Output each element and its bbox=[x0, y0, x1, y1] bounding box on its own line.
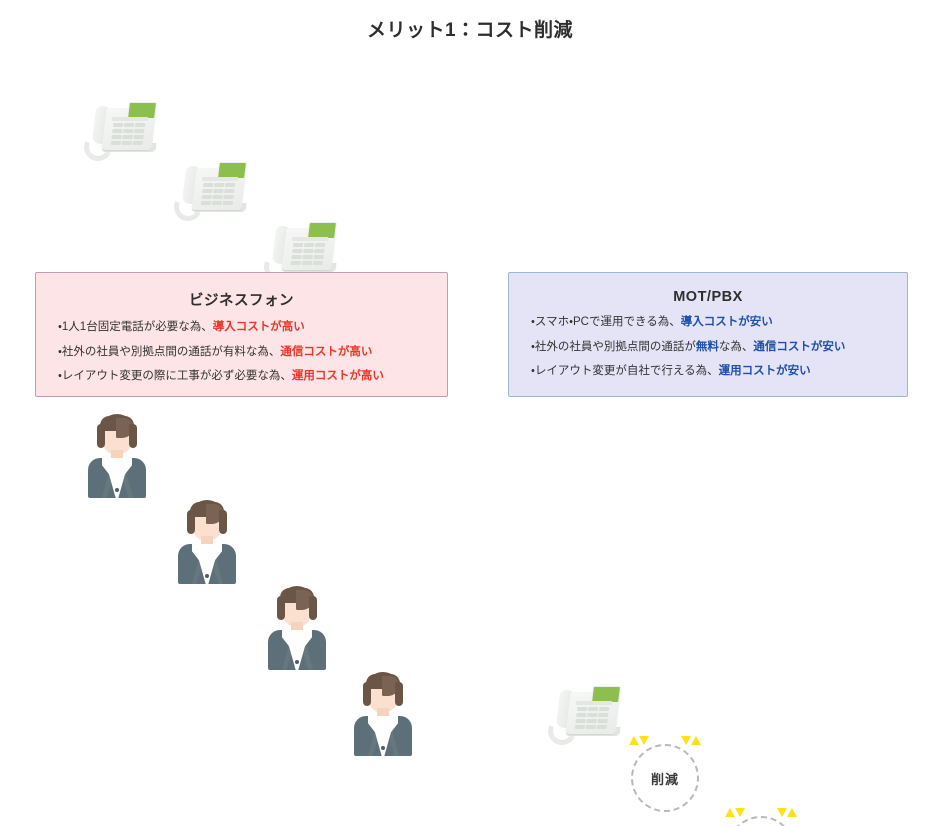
reduction-label: 削減 bbox=[727, 816, 795, 826]
bullet-text: ・スマホ・PCで運用できる為、 bbox=[531, 316, 681, 328]
reduction-bubble: 削減 bbox=[631, 744, 703, 816]
desk-phone-icon bbox=[172, 156, 246, 216]
bullet-text: ・レイアウト変更の際に工事が必ず必要な為、 bbox=[58, 370, 292, 382]
bullet-text: ・社外の社員や別拠点間の通話が有料な為、 bbox=[58, 346, 280, 358]
bullet-highlight: 通信コストが高い bbox=[280, 346, 372, 358]
list-item: ・1人1台固定電話が必要な為、導入コストが高い bbox=[58, 320, 447, 336]
business-person-icon bbox=[266, 584, 328, 670]
slide-canvas: メリット1：コスト削減 bbox=[0, 0, 940, 413]
list-item: ・スマホ・PCで運用できる為、導入コストが安い bbox=[531, 315, 907, 331]
desk-phone-icon bbox=[82, 96, 156, 156]
business-person-icon bbox=[176, 498, 238, 584]
bullet-highlight: 運用コストが高い bbox=[292, 370, 384, 382]
bullet-highlight-2: 通信コストが安い bbox=[753, 341, 845, 353]
bullet-text: ・1人1台固定電話が必要な為、 bbox=[58, 321, 213, 333]
bullet-text: ・社外の社員や別拠点間の通話が bbox=[531, 341, 696, 353]
panel-heading: ビジネスフォン bbox=[36, 289, 447, 310]
desk-phone-icon bbox=[262, 216, 336, 276]
business-phone-panel: ビジネスフォン ・1人1台固定電話が必要な為、導入コストが高い ・社外の社員や別… bbox=[35, 272, 448, 397]
business-person-icon bbox=[352, 670, 414, 756]
list-item: ・社外の社員や別拠点間の通話が有料な為、通信コストが高い bbox=[58, 345, 447, 361]
bullet-highlight: 導入コストが安い bbox=[681, 316, 773, 328]
list-item: ・レイアウト変更の際に工事が必ず必要な為、運用コストが高い bbox=[58, 369, 447, 385]
business-phone-bullet-list: ・1人1台固定電話が必要な為、導入コストが高い ・社外の社員や別拠点間の通話が有… bbox=[36, 320, 447, 385]
reduction-label: 削減 bbox=[631, 744, 699, 812]
panel-heading: MOT/PBX bbox=[509, 289, 907, 305]
reduction-bubble: 削減 bbox=[727, 816, 799, 826]
bullet-highlight: 運用コストが安い bbox=[719, 365, 811, 377]
mot-pbx-bullet-list: ・スマホ・PCで運用できる為、導入コストが安い ・社外の社員や別拠点間の通話が無… bbox=[509, 315, 907, 380]
business-person-icon bbox=[86, 412, 148, 498]
desk-phone-icon bbox=[546, 680, 620, 740]
list-item: ・社外の社員や別拠点間の通話が無料な為、通信コストが安い bbox=[531, 340, 907, 356]
bullet-text-mid: な為、 bbox=[719, 341, 754, 353]
page-title: メリット1：コスト削減 bbox=[0, 15, 940, 42]
mot-pbx-panel: MOT/PBX ・スマホ・PCで運用できる為、導入コストが安い ・社外の社員や別… bbox=[508, 272, 908, 397]
bullet-highlight: 導入コストが高い bbox=[213, 321, 305, 333]
bullet-text: ・レイアウト変更が自社で行える為、 bbox=[531, 365, 719, 377]
bullet-highlight: 無料 bbox=[696, 341, 719, 353]
list-item: ・レイアウト変更が自社で行える為、運用コストが安い bbox=[531, 364, 907, 380]
